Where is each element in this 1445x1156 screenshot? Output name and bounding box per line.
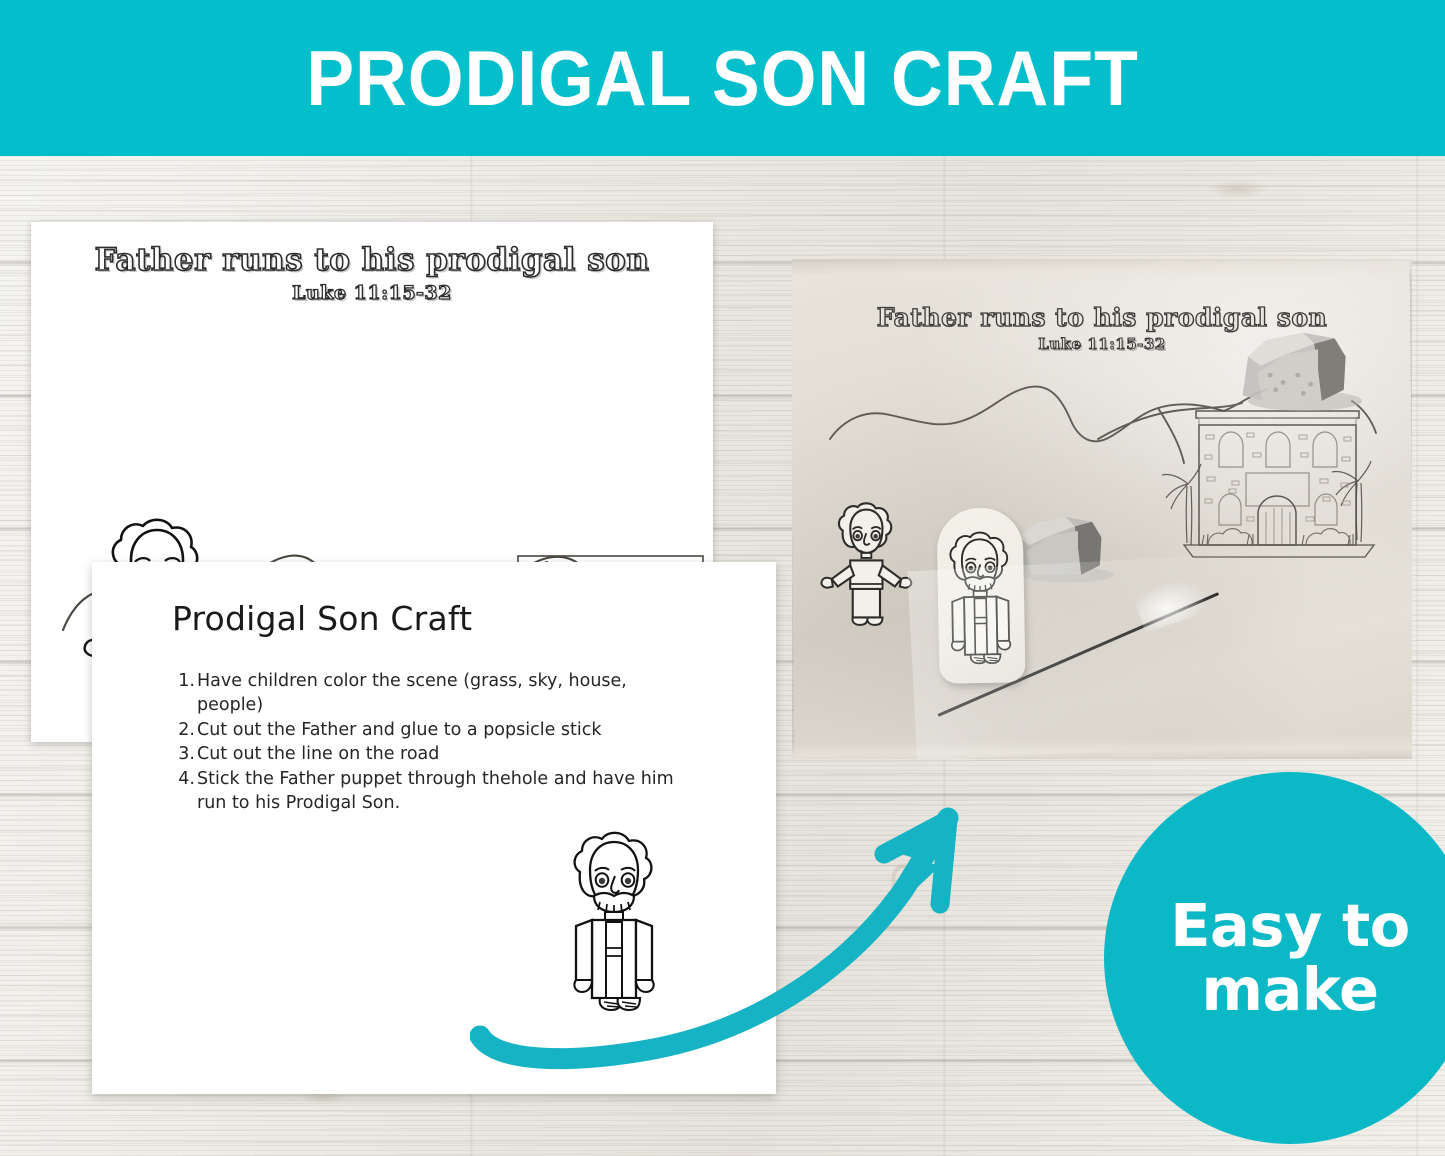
instruction-step: 1. Have children color the scene (grass,… [174, 670, 694, 718]
step-number: 4. [174, 768, 197, 816]
step-text: Have children color the scene (grass, sk… [197, 670, 694, 718]
instruction-step: 3. Cut out the line on the road [174, 743, 694, 767]
step-number: 3. [174, 743, 197, 767]
badge-text: Easy to make [1170, 894, 1409, 1021]
step-number: 1. [174, 670, 197, 718]
instruction-card-title: Prodigal Son Craft [172, 599, 472, 638]
page-title: PRODIGAL SON CRAFT [306, 39, 1139, 117]
step-number: 2. [174, 719, 197, 743]
instruction-step: 2. Cut out the Father and glue to a pops… [174, 719, 694, 743]
photo-paper-sheen [907, 547, 1386, 759]
finished-craft-photo: Father runs to his prodigal son Luke 11:… [792, 259, 1412, 759]
badge-line-1: Easy to [1170, 891, 1409, 960]
poster-stage: PRODIGAL SON CRAFT Father runs to his pr… [0, 0, 1445, 1156]
step-text: Cut out the Father and glue to a popsicl… [197, 719, 694, 743]
photo-son-figure-icon [821, 503, 911, 625]
curved-arrow-icon [470, 770, 1060, 1070]
wood-grain-streak [1208, 180, 1268, 198]
step-text: Cut out the line on the road [197, 743, 694, 767]
header-band: PRODIGAL SON CRAFT [0, 0, 1445, 156]
badge-line-2: make [1202, 955, 1379, 1024]
